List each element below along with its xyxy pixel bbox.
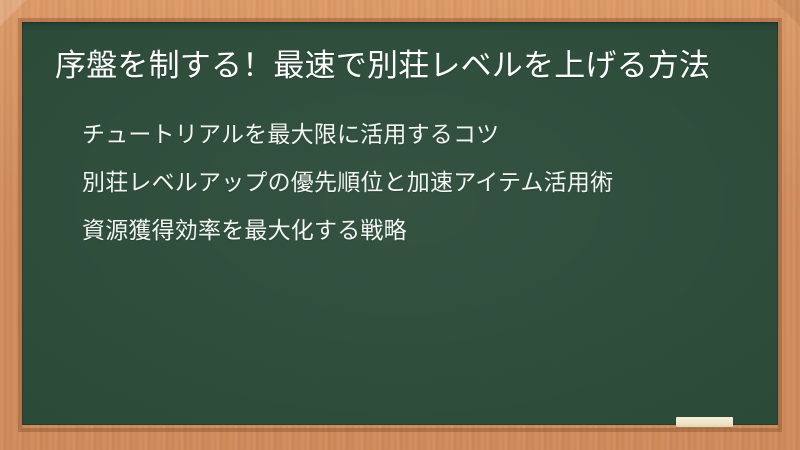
chalkboard-slide: 序盤を制する！最速で別荘レベルを上げる方法 チュートリアルを最大限に活用するコツ… — [0, 0, 800, 450]
list-item: チュートリアルを最大限に活用するコツ — [82, 116, 722, 152]
list-item: 資源獲得効率を最大化する戦略 — [82, 212, 722, 248]
chalk-stick-icon — [676, 417, 733, 427]
list-item: 別荘レベルアップの優先順位と加速アイテム活用術 — [82, 164, 722, 200]
chalkboard-surface: 序盤を制する！最速で別荘レベルを上げる方法 チュートリアルを最大限に活用するコツ… — [22, 22, 778, 425]
slide-bullet-list: チュートリアルを最大限に活用するコツ 別荘レベルアップの優先順位と加速アイテム活… — [55, 116, 748, 248]
slide-title: 序盤を制する！最速で別荘レベルを上げる方法 — [55, 32, 745, 90]
